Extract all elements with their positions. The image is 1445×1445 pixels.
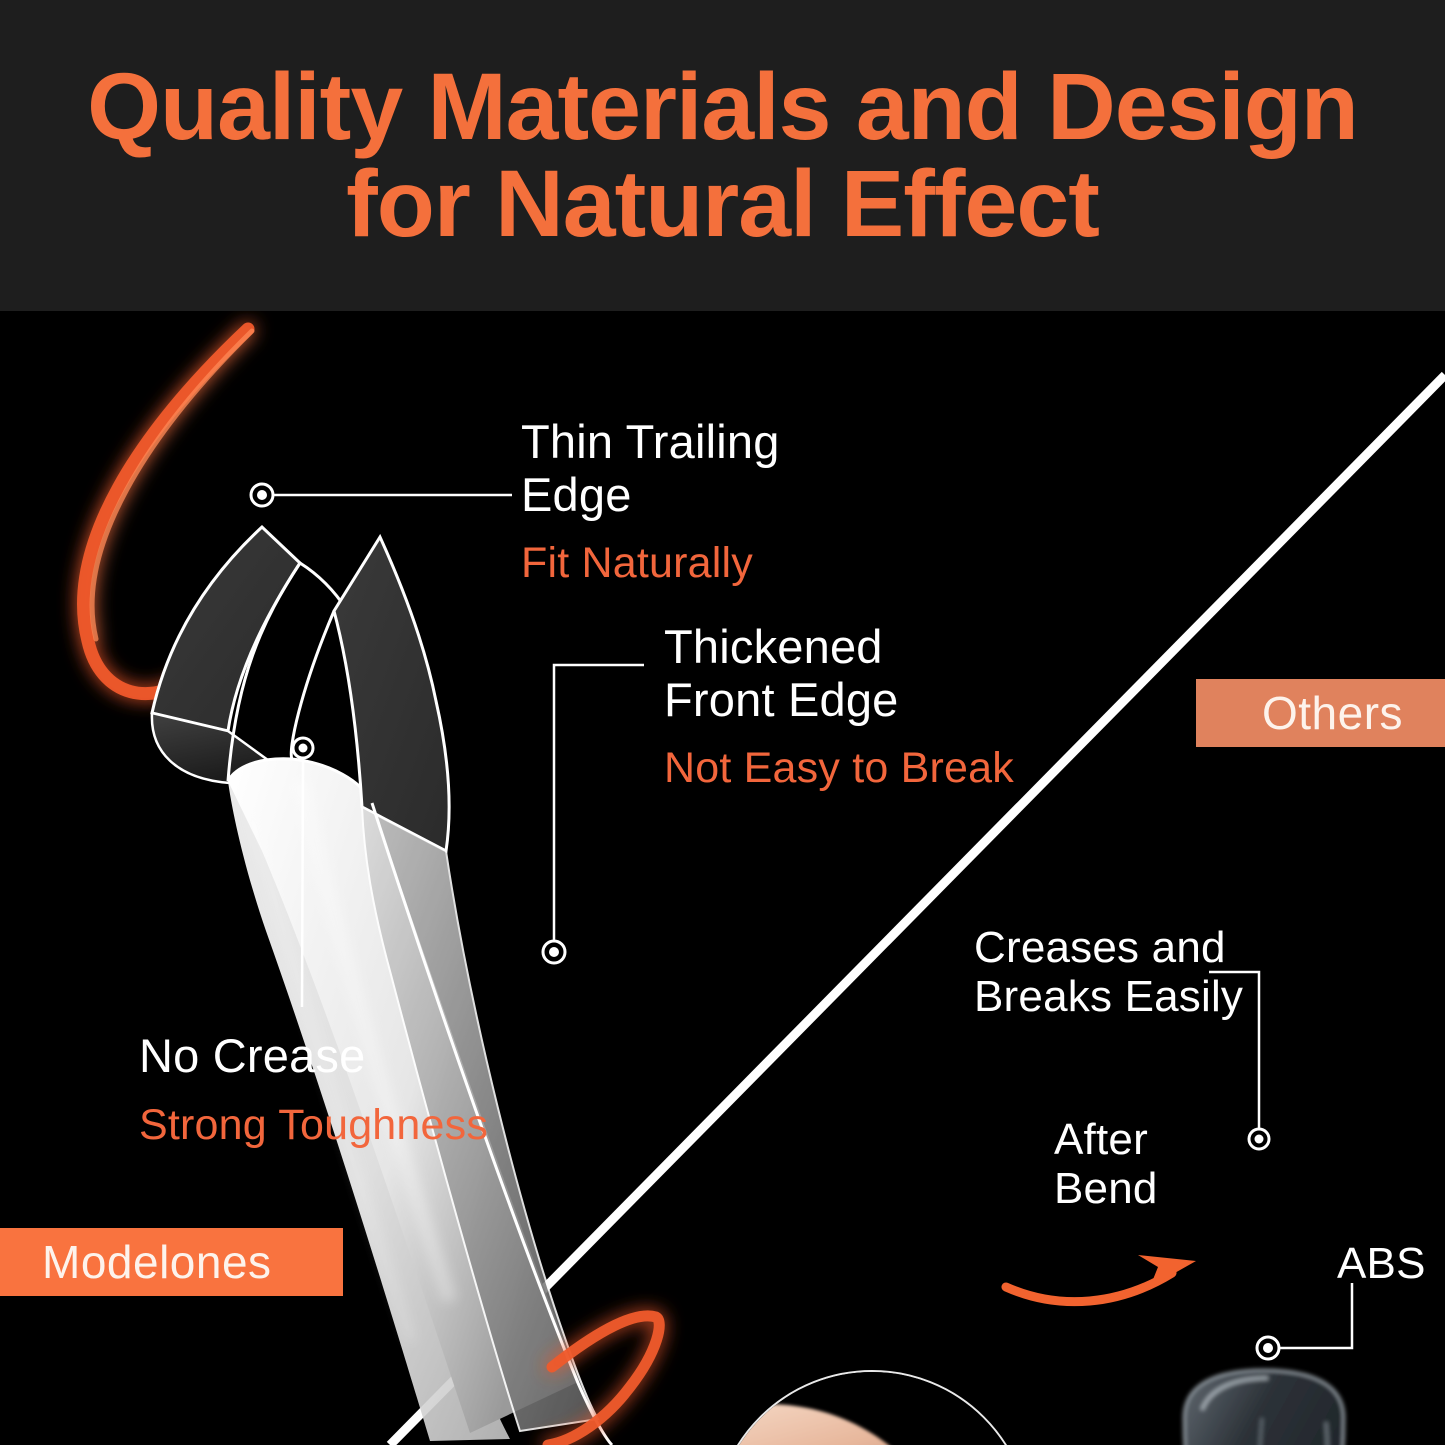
badge-others-label: Others xyxy=(1262,686,1403,740)
page-title-line2: for Natural Effect xyxy=(346,156,1099,253)
badge-modelones: Modelones xyxy=(0,1228,343,1296)
callout-line-creases-breaks xyxy=(1209,972,1269,1149)
header-banner: Quality Materials and Design for Natural… xyxy=(0,0,1445,311)
page-title-line1: Quality Materials and Design xyxy=(87,59,1358,156)
bend-arrow-icon xyxy=(1006,1255,1196,1302)
callout-line-abs xyxy=(1257,1283,1352,1359)
badge-others: Others xyxy=(1196,679,1445,747)
badge-modelones-label: Modelones xyxy=(42,1235,272,1289)
